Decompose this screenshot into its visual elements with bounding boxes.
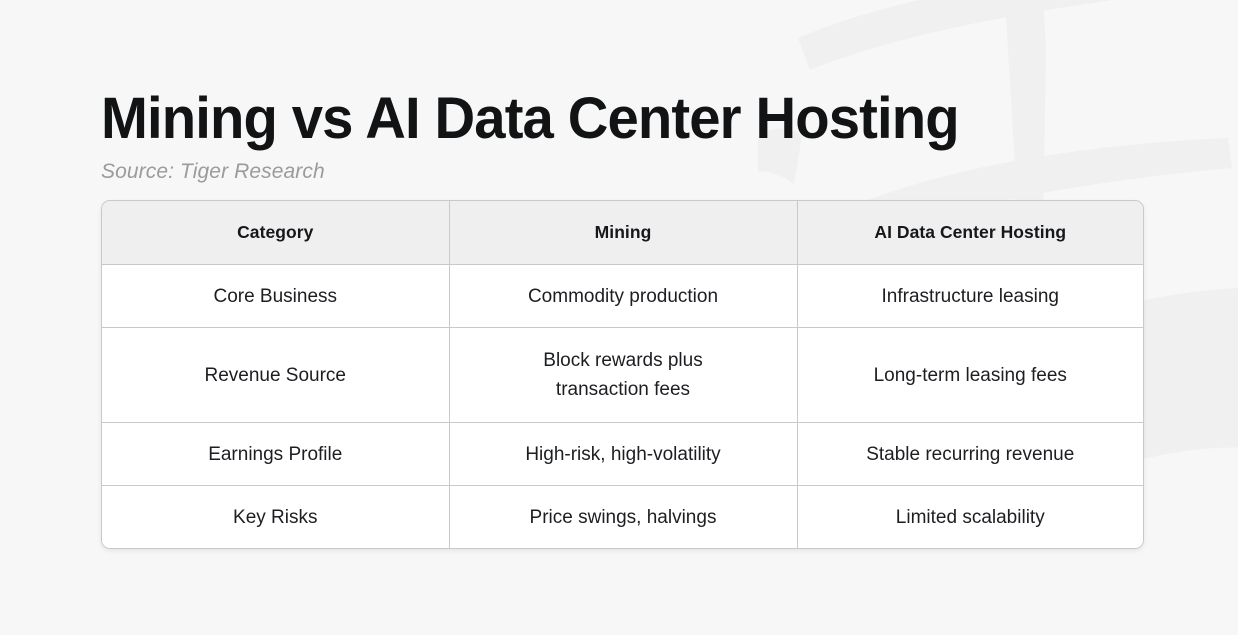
cell-mining: High-risk, high-volatility [449,423,797,486]
comparison-table: Category Mining AI Data Center Hosting C… [102,201,1143,548]
table-header-row: Category Mining AI Data Center Hosting [102,201,1143,265]
cell-ai-hosting: Infrastructure leasing [797,265,1143,328]
cell-category: Revenue Source [102,328,449,423]
table-header: Category Mining AI Data Center Hosting [102,201,1143,265]
comparison-table-container: Category Mining AI Data Center Hosting C… [101,200,1144,549]
cell-ai-hosting: Limited scalability [797,486,1143,549]
cell-mining: Block rewards plus transaction fees [449,328,797,423]
cell-category: Core Business [102,265,449,328]
slide-root: Mining vs AI Data Center Hosting Source:… [0,0,1238,635]
column-header-category: Category [102,201,449,265]
cell-category: Earnings Profile [102,423,449,486]
source-attribution: Source: Tiger Research [101,150,1238,185]
cell-mining-line-2: transaction fees [462,375,785,404]
page-title: Mining vs AI Data Center Hosting [101,0,1204,150]
cell-mining: Price swings, halvings [449,486,797,549]
cell-mining-line-1: Block rewards plus [462,346,785,375]
table-row: Key Risks Price swings, halvings Limited… [102,486,1143,549]
table-row: Earnings Profile High-risk, high-volatil… [102,423,1143,486]
cell-category: Key Risks [102,486,449,549]
cell-ai-hosting: Long-term leasing fees [797,328,1143,423]
cell-ai-hosting: Stable recurring revenue [797,423,1143,486]
table-row: Revenue Source Block rewards plus transa… [102,328,1143,423]
cell-mining: Commodity production [449,265,797,328]
table-row: Core Business Commodity production Infra… [102,265,1143,328]
column-header-mining: Mining [449,201,797,265]
table-body: Core Business Commodity production Infra… [102,265,1143,549]
column-header-ai-data-center-hosting: AI Data Center Hosting [797,201,1143,265]
